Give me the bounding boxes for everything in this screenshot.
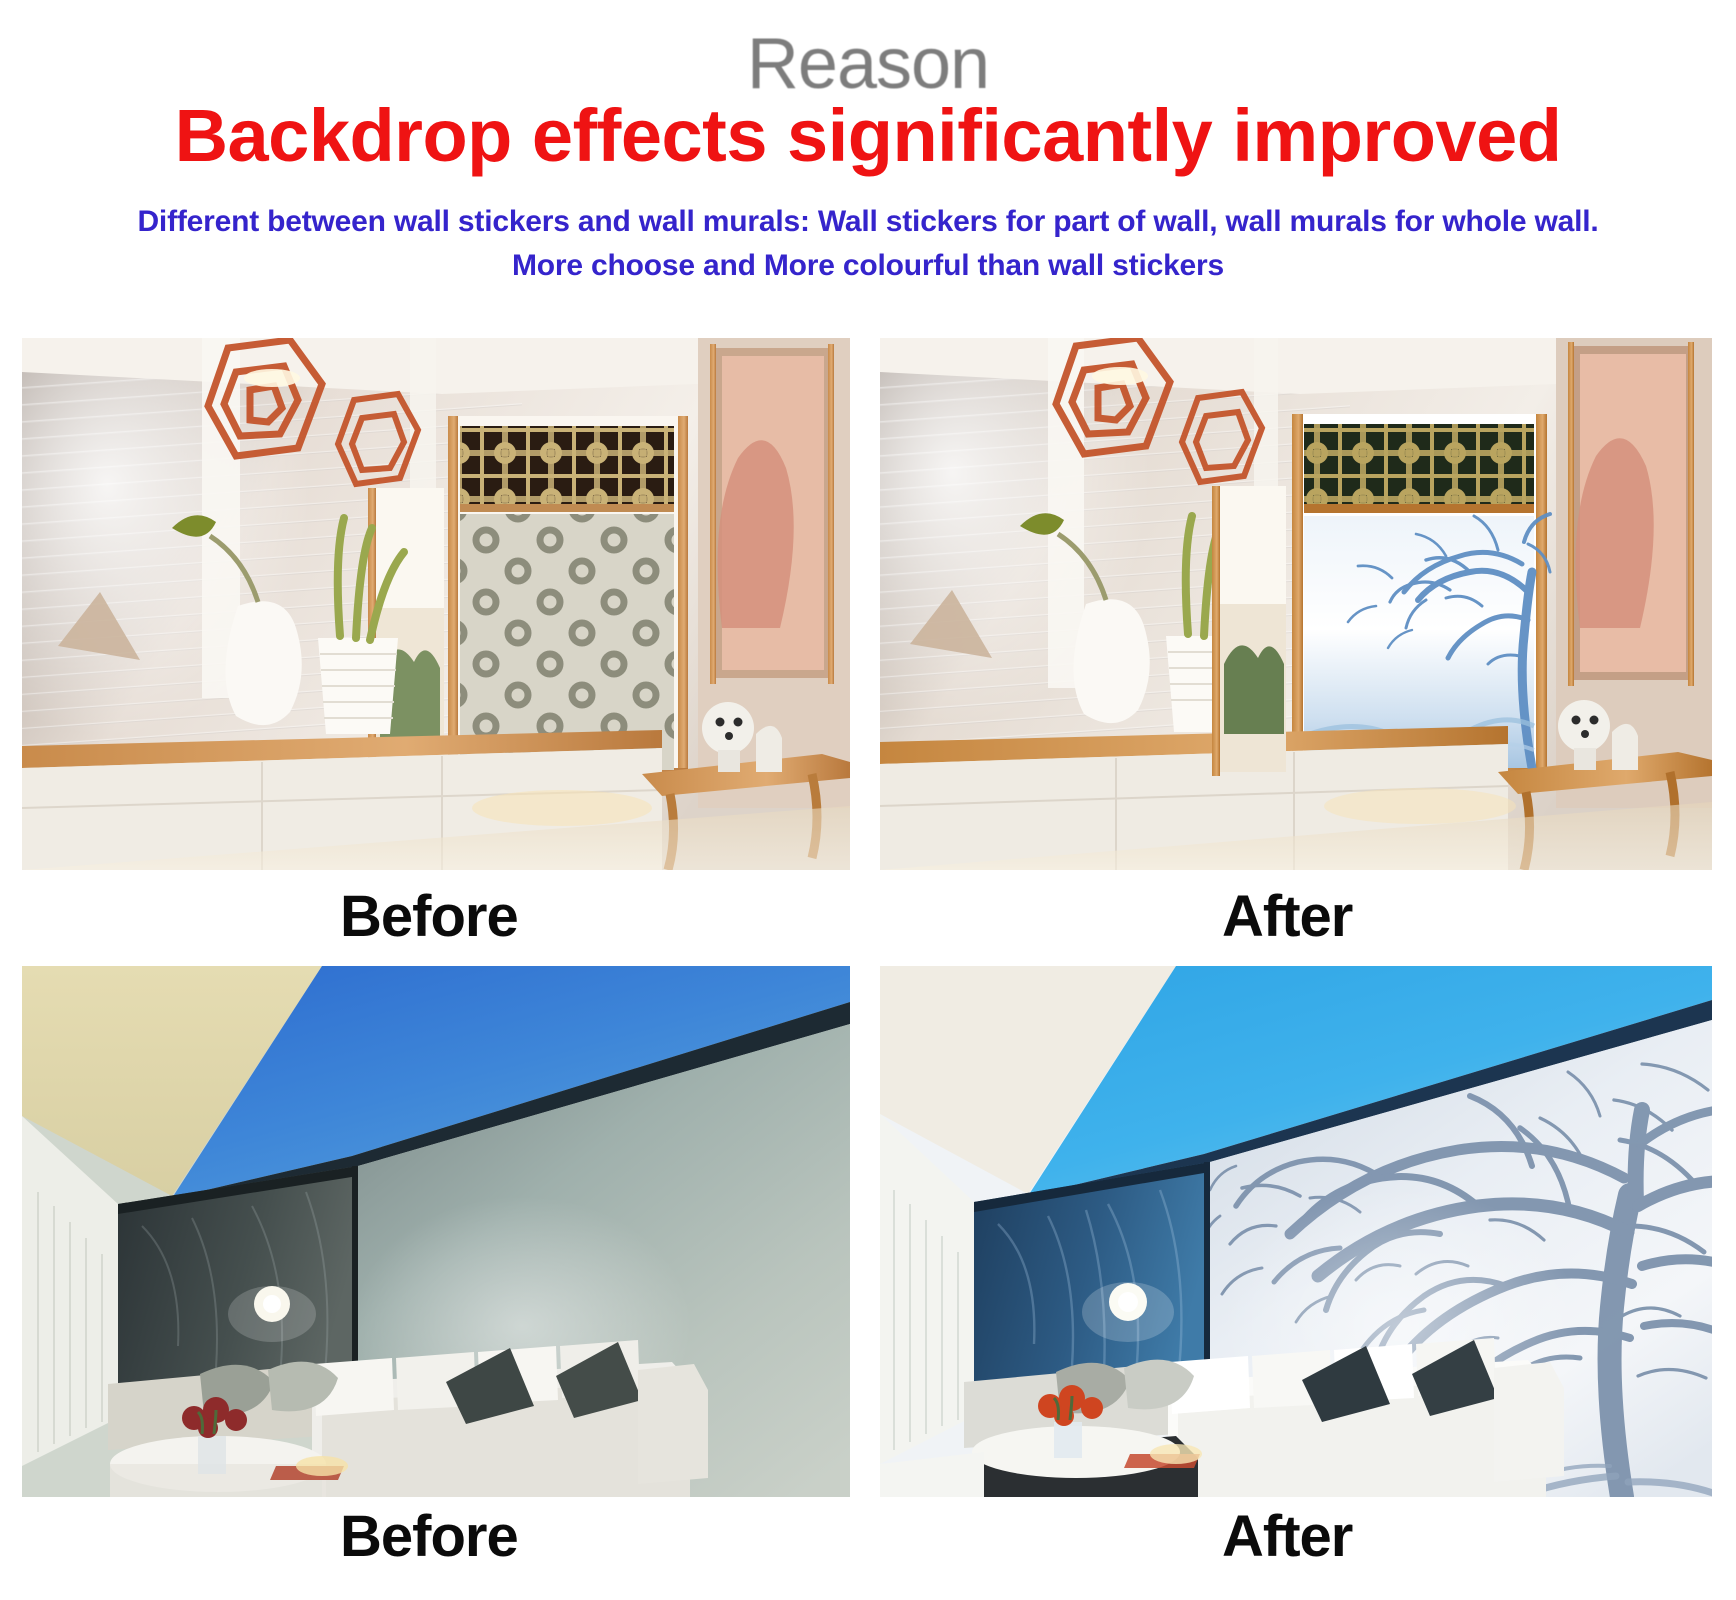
photo-living-room-before[interactable] — [22, 966, 850, 1497]
hallway-after-illustration — [880, 338, 1712, 870]
caption-hallway-before: Before — [340, 888, 518, 946]
eyebrow-text: Reason — [0, 28, 1736, 100]
caption-hallway-after: After — [1222, 888, 1352, 946]
header: Reason Backdrop effects significantly im… — [0, 0, 1736, 310]
subtitle-block: Different between wall stickers and wall… — [0, 200, 1736, 289]
photo-hallway-before[interactable] — [22, 338, 850, 870]
caption-living-room-before: Before — [340, 1508, 518, 1566]
caption-living-room-after: After — [1222, 1508, 1352, 1566]
living-room-after-illustration — [880, 966, 1712, 1497]
photo-hallway-after[interactable] — [880, 338, 1712, 870]
photo-living-room-after[interactable] — [880, 966, 1712, 1497]
subtitle-line-1: Different between wall stickers and wall… — [0, 200, 1736, 244]
living-room-before-illustration — [22, 966, 850, 1497]
page-title: Backdrop effects significantly improved — [0, 96, 1736, 176]
hallway-before-illustration — [22, 338, 850, 870]
subtitle-line-2: More choose and More colourful than wall… — [0, 244, 1736, 288]
